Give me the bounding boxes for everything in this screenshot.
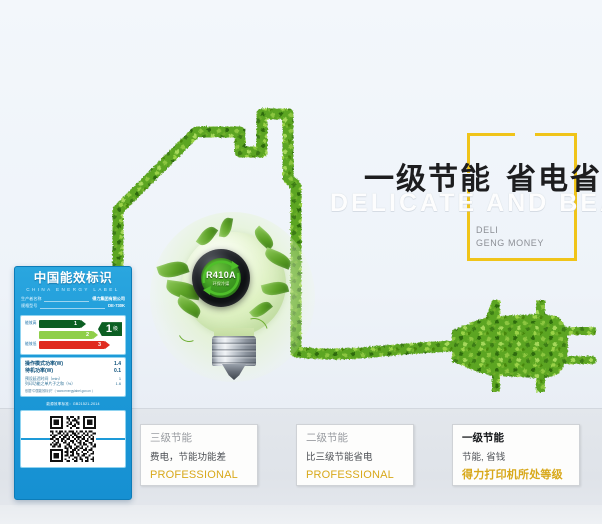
meta-rule — [40, 303, 105, 309]
card-grade-three[interactable]: 三级节能 费电，节能功能差 PROFESSIONAL — [140, 424, 258, 486]
card-description: 比三级节能省电 — [306, 450, 404, 465]
grade-bar-1: 1 — [39, 320, 81, 328]
meta-value: DE-730K — [108, 303, 125, 308]
label-meta-row: 生产者名称 得力集团有限公司 — [21, 296, 125, 302]
comparison-cards: 三级节能 费电，节能功能差 PROFESSIONAL 二级节能 比三级节能省电 … — [0, 424, 602, 500]
label-meta-rows: 生产者名称 得力集团有限公司 规格型号 DE-730K — [15, 294, 131, 313]
label-header: 中国能效标识 CHINA ENERGY LABEL — [15, 267, 131, 294]
label-title-en: CHINA ENERGY LABEL — [21, 287, 125, 292]
spec-value: 0.1 — [114, 368, 121, 375]
subtext-line-2: GENG MONEY — [476, 237, 544, 250]
meta-value: 得力集团有限公司 — [92, 296, 125, 301]
meta-key: 规格型号 — [21, 303, 37, 308]
card-title: 二级节能 — [306, 431, 404, 447]
meta-key: 生产者名称 — [21, 296, 41, 301]
spec-table: 操作模式功率(W) 1.4 待机功率(W) 0.1 预设延迟时间（min） 1 … — [20, 357, 126, 397]
card-grade-one[interactable]: 一级节能 节能, 省钱 得力打印机所处等级 — [452, 424, 580, 486]
card-grade-two[interactable]: 二级节能 比三级节能省电 PROFESSIONAL — [296, 424, 414, 486]
poster-canvas: R410A 环保冷媒 DELICATE AND BEAUTIFUL 一级节能省电… — [0, 0, 602, 524]
spec-label: 待机功率(W) — [25, 368, 53, 375]
efficiency-grade-box: 能效高 1 2 能效低 3 1级 — [20, 315, 126, 355]
subtext-line-1: DELI — [476, 224, 544, 237]
card-brand: PROFESSIONAL — [150, 467, 248, 484]
card-description: 节能, 省钱 — [462, 450, 570, 465]
grade-bar-3: 3 — [39, 341, 105, 349]
headline-right: 省电省钱 — [506, 163, 602, 196]
energy-standard: 能源效率标准：GB21521-2014 — [15, 399, 131, 409]
selected-grade-badge: 1级 — [98, 322, 122, 336]
grade-caption-high: 能效高 — [25, 322, 39, 326]
card-title: 三级节能 — [150, 431, 248, 447]
label-meta-row: 规格型号 DE-730K — [21, 303, 125, 309]
grade-bar-2: 2 — [39, 331, 93, 339]
card-brand: 得力打印机所处等级 — [462, 467, 570, 484]
card-description: 费电，节能功能差 — [150, 450, 248, 465]
headline-left: 一级节能 — [364, 163, 492, 196]
grade-caption-low: 能效低 — [25, 343, 39, 347]
headline-subtext: DELI GENG MONEY — [476, 224, 544, 250]
card-title: 一级节能 — [462, 431, 570, 447]
selected-grade-value: 1 — [106, 324, 112, 335]
footer-strip — [0, 505, 602, 524]
meta-rule — [44, 296, 89, 302]
label-title-cn: 中国能效标识 — [21, 272, 125, 285]
card-brand: PROFESSIONAL — [306, 467, 404, 484]
spec-note: 依据“中国能效标识”（ www.energylabel.gov.cn ） — [25, 389, 121, 393]
grade-bar-row: 能效低 3 — [25, 341, 121, 349]
selected-grade-suffix: 级 — [113, 327, 118, 332]
r410a-badge: R410A 环保冷媒 — [192, 249, 250, 307]
spec-label: 列印功能之单片子之和（%） — [25, 381, 75, 387]
spec-value: 1.4 — [114, 361, 121, 368]
spec-value: 1.6 — [116, 381, 121, 387]
page-title: 一级节能省电省钱 — [364, 154, 602, 198]
spec-row: 待机功率(W) 0.1 — [25, 368, 121, 375]
power-plug — [452, 300, 596, 392]
spec-row: 列印功能之单片子之和（%） 1.6 — [25, 381, 121, 387]
